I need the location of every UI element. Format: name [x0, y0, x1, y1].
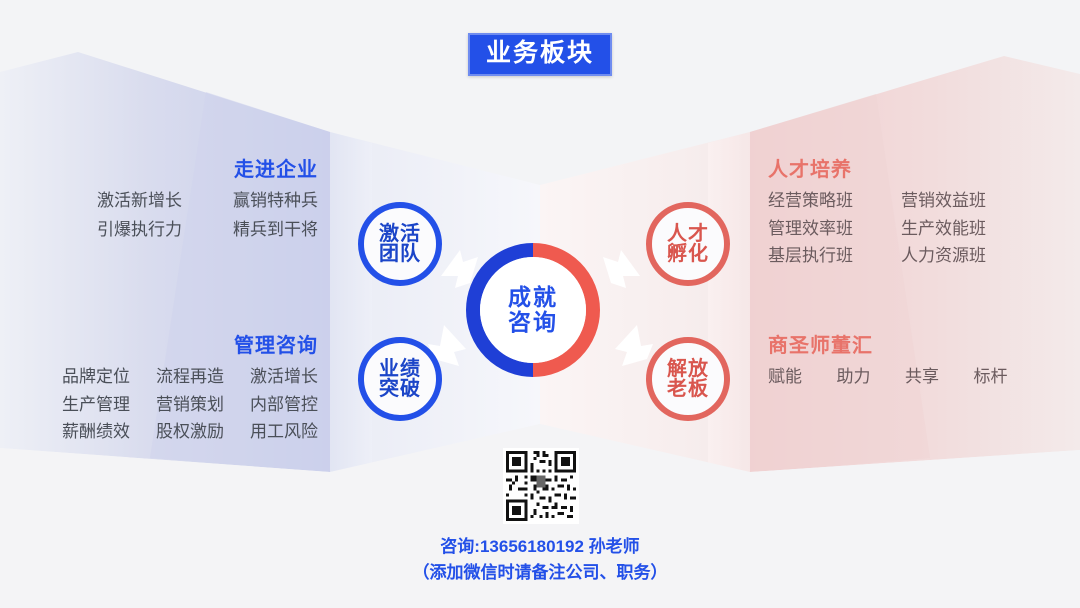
block-heading-merchant-sage: 商圣师董汇 — [768, 336, 1018, 356]
block-heading-enter-enterprise: 走进企业 — [68, 160, 318, 180]
block-items-enter-enterprise: 激活新增长 赢销特种兵 引爆执行力 精兵到干将 — [68, 189, 318, 242]
block-merchant-sage: 商圣师董汇 赋能 助力 共享 标杆 — [768, 336, 1018, 390]
list-item: 管理效率班 — [768, 217, 853, 242]
list-item: 内部管控 — [250, 393, 318, 418]
node-performance-breakthrough[interactable]: 业绩 突破 — [358, 337, 442, 421]
list-item: 品牌定位 — [62, 365, 130, 390]
node-line-2: 突破 — [379, 379, 421, 399]
block-heading-talent-training: 人才培养 — [768, 160, 1018, 180]
node-liberate-boss[interactable]: 解放 老板 — [646, 337, 730, 421]
list-item: 助力 — [837, 365, 871, 390]
list-item: 生产管理 — [62, 393, 130, 418]
block-enter-enterprise: 走进企业 激活新增长 赢销特种兵 引爆执行力 精兵到干将 — [68, 160, 318, 242]
list-item: 精兵到干将 — [233, 218, 318, 243]
qr-code[interactable] — [503, 448, 579, 524]
contact-note: （添加微信时请备注公司、职务） — [0, 560, 1080, 586]
list-item: 营销效益班 — [901, 189, 986, 214]
list-item: 赋能 — [768, 365, 802, 390]
center-hub[interactable]: 成就 咨询 — [466, 243, 600, 377]
block-talent-training: 人才培养 经营策略班 营销效益班 管理效率班 生产效能班 基层执行班 人力资源班 — [768, 160, 1018, 269]
block-items-management-consulting: 品牌定位 流程再造 激活增长 生产管理 营销策划 内部管控 薪酬绩效 股权激励 … — [50, 365, 318, 445]
center-line-2: 咨询 — [508, 310, 558, 335]
list-item: 薪酬绩效 — [62, 420, 130, 445]
page-title: 业务板块 — [468, 33, 612, 76]
list-item: 人力资源班 — [901, 244, 986, 269]
node-talent-incubation[interactable]: 人才 孵化 — [646, 202, 730, 286]
list-item: 生产效能班 — [901, 217, 986, 242]
contact-phone: 咨询:13656180192 孙老师 — [0, 534, 1080, 560]
block-management-consulting: 管理咨询 品牌定位 流程再造 激活增长 生产管理 营销策划 内部管控 薪酬绩效 … — [50, 336, 318, 445]
node-line-2: 孵化 — [667, 244, 709, 264]
center-line-1: 成就 — [508, 285, 558, 310]
node-activate-team[interactable]: 激活 团队 — [358, 202, 442, 286]
node-line-1: 解放 — [667, 359, 709, 379]
node-line-1: 人才 — [667, 224, 709, 244]
list-item: 经营策略班 — [768, 189, 853, 214]
node-line-2: 老板 — [667, 379, 709, 399]
block-items-talent-training: 经营策略班 营销效益班 管理效率班 生产效能班 基层执行班 人力资源班 — [768, 189, 1018, 269]
list-item: 用工风险 — [250, 420, 318, 445]
node-line-1: 激活 — [379, 224, 421, 244]
list-item: 激活新增长 — [97, 189, 182, 214]
node-line-1: 业绩 — [379, 359, 421, 379]
list-item: 股权激励 — [156, 420, 224, 445]
diagram-canvas: 业务板块 走进企业 激活新增长 赢销特种兵 引爆执行力 精兵到干将 管理咨询 品… — [0, 0, 1080, 608]
block-heading-management-consulting: 管理咨询 — [50, 336, 318, 356]
list-item: 激活增长 — [250, 365, 318, 390]
contact-info: 咨询:13656180192 孙老师 （添加微信时请备注公司、职务） — [0, 534, 1080, 585]
center-label: 成就 咨询 — [480, 257, 586, 363]
list-item: 基层执行班 — [768, 244, 853, 269]
block-items-merchant-sage: 赋能 助力 共享 标杆 — [768, 365, 1018, 390]
list-item: 引爆执行力 — [97, 218, 182, 243]
list-item: 赢销特种兵 — [233, 189, 318, 214]
list-item: 营销策划 — [156, 393, 224, 418]
node-line-2: 团队 — [379, 244, 421, 264]
list-item: 标杆 — [974, 365, 1008, 390]
list-item: 流程再造 — [156, 365, 224, 390]
list-item: 共享 — [905, 365, 939, 390]
